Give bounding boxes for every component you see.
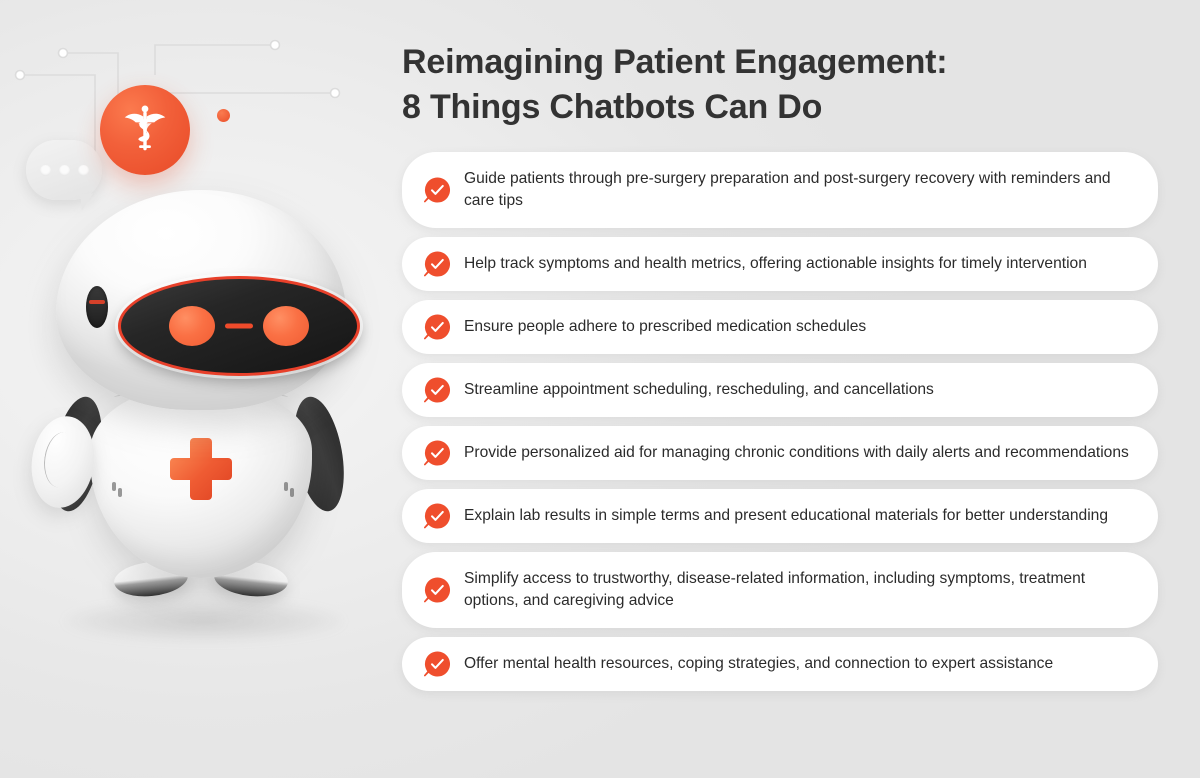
list-item-label: Guide patients through pre-surgery prepa… bbox=[464, 168, 1132, 212]
list-item: Explain lab results in simple terms and … bbox=[402, 489, 1158, 543]
robot-head bbox=[56, 190, 346, 410]
content-panel: Reimagining Patient Engagement: 8 Things… bbox=[400, 0, 1200, 778]
accent-dot-decoration bbox=[217, 109, 230, 122]
robot-vent bbox=[290, 488, 294, 497]
list-item-label: Help track symptoms and health metrics, … bbox=[464, 253, 1087, 275]
list-item: Help track symptoms and health metrics, … bbox=[402, 237, 1158, 291]
robot-body bbox=[90, 386, 312, 578]
check-bubble-icon bbox=[424, 503, 451, 530]
list-item: Guide patients through pre-surgery prepa… bbox=[402, 152, 1158, 228]
typing-dot bbox=[40, 165, 51, 176]
page-title-line-1: Reimagining Patient Engagement: bbox=[402, 40, 1162, 85]
typing-dot bbox=[59, 165, 70, 176]
check-bubble-icon bbox=[424, 314, 451, 341]
robot-ground-shadow bbox=[64, 600, 344, 642]
robot-eye-right bbox=[263, 306, 309, 346]
illustration-panel bbox=[0, 0, 400, 700]
benefits-list: Guide patients through pre-surgery prepa… bbox=[402, 152, 1158, 691]
check-bubble-icon bbox=[424, 251, 451, 278]
caduceus-icon bbox=[100, 85, 190, 175]
list-item: Offer mental health resources, coping st… bbox=[402, 637, 1158, 691]
robot-eye-left bbox=[169, 306, 215, 346]
list-item-label: Explain lab results in simple terms and … bbox=[464, 505, 1108, 527]
typing-dot bbox=[78, 165, 89, 176]
list-item: Ensure people adhere to prescribed medic… bbox=[402, 300, 1158, 354]
robot-face-visor bbox=[118, 276, 360, 376]
list-item-label: Simplify access to trustworthy, disease-… bbox=[464, 568, 1132, 612]
robot-vent bbox=[112, 482, 116, 491]
robot-mouth bbox=[225, 324, 253, 329]
robot-ear-left bbox=[86, 286, 108, 328]
footer: master.of.code GLOBAL masterofcode.com ©… bbox=[0, 696, 1200, 778]
check-bubble-icon bbox=[424, 577, 451, 604]
list-item-label: Provide personalized aid for managing ch… bbox=[464, 442, 1129, 464]
list-item-label: Ensure people adhere to prescribed medic… bbox=[464, 316, 866, 338]
robot-vent bbox=[118, 488, 122, 497]
infographic-poster: Reimagining Patient Engagement: 8 Things… bbox=[0, 0, 1200, 778]
healthcare-robot-illustration bbox=[18, 190, 382, 650]
page-title-line-2: 8 Things Chatbots Can Do bbox=[402, 85, 1162, 130]
list-item: Simplify access to trustworthy, disease-… bbox=[402, 552, 1158, 628]
robot-vent bbox=[284, 482, 288, 491]
check-bubble-icon bbox=[424, 440, 451, 467]
list-item: Provide personalized aid for managing ch… bbox=[402, 426, 1158, 480]
list-item-label: Offer mental health resources, coping st… bbox=[464, 653, 1053, 675]
check-bubble-icon bbox=[424, 177, 451, 204]
list-item-label: Streamline appointment scheduling, resch… bbox=[464, 379, 934, 401]
check-bubble-icon bbox=[424, 377, 451, 404]
list-item: Streamline appointment scheduling, resch… bbox=[402, 363, 1158, 417]
page-title: Reimagining Patient Engagement: 8 Things… bbox=[402, 40, 1162, 130]
check-bubble-icon bbox=[424, 651, 451, 678]
medical-cross-icon bbox=[170, 438, 232, 500]
